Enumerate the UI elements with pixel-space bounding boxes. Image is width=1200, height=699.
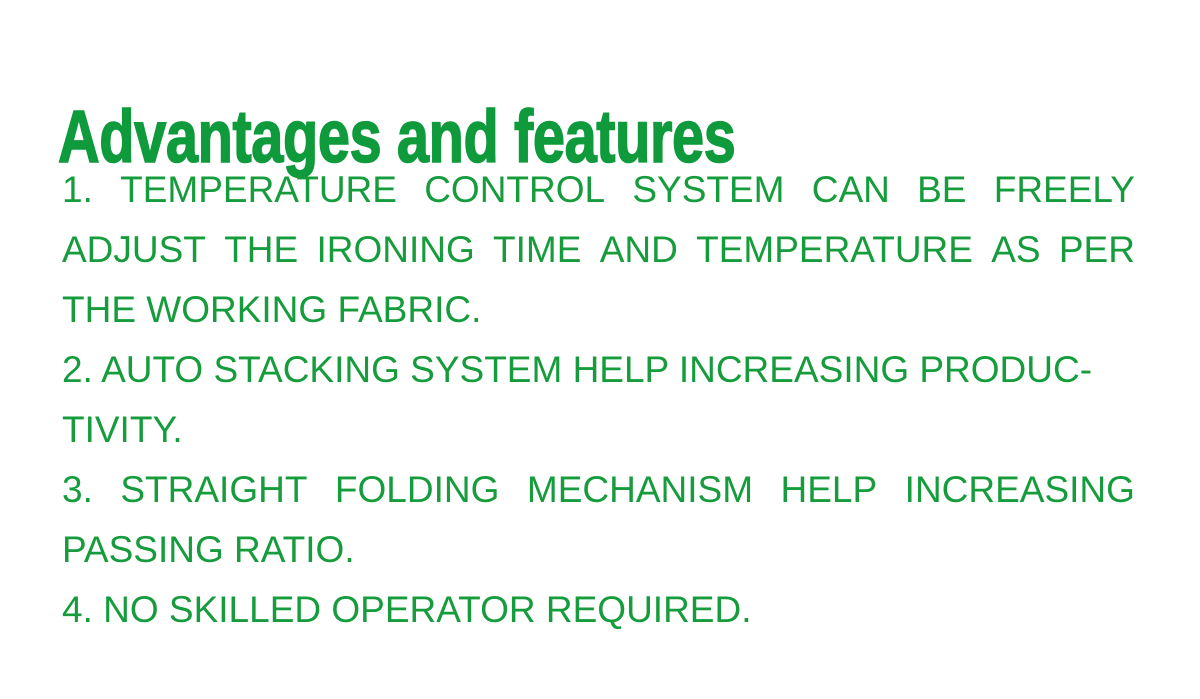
feature-word: TIME: [493, 220, 581, 280]
feature-text-line: TIVITY.: [62, 400, 1135, 460]
feature-word: MECHANISM: [527, 460, 753, 520]
feature-text-line: ADJUSTTHEIRONINGTIMEANDTEMPERATUREASPER: [62, 220, 1135, 280]
feature-text-line: 2. AUTO STACKING SYSTEM HELP INCREASING …: [62, 340, 1135, 400]
feature-word: FREELY: [994, 160, 1135, 220]
feature-text-line: 4. NO SKILLED OPERATOR REQUIRED.: [62, 580, 1135, 640]
feature-word: HELP: [781, 460, 878, 520]
feature-text-line: PASSING RATIO.: [62, 520, 1135, 580]
feature-word: IRONING: [316, 220, 474, 280]
feature-word: BE: [917, 160, 966, 220]
feature-word: ADJUST: [62, 220, 206, 280]
feature-text-line: 1.TEMPERATURECONTROLSYSTEMCANBEFREELY: [62, 160, 1135, 220]
feature-word: 1.: [62, 160, 93, 220]
feature-text-line: 3.STRAIGHTFOLDINGMECHANISMHELPINCREASING: [62, 460, 1135, 520]
feature-word: SYSTEM: [632, 160, 784, 220]
feature-word: AS: [991, 220, 1040, 280]
feature-word: TEMPERATURE: [696, 220, 973, 280]
feature-word: AND: [600, 220, 678, 280]
feature-word: STRAIGHT: [120, 460, 307, 520]
feature-text-line: THE WORKING FABRIC.: [62, 280, 1135, 340]
feature-word: CAN: [812, 160, 890, 220]
feature-word: 3.: [62, 460, 93, 520]
feature-word: TEMPERATURE: [120, 160, 397, 220]
feature-word: INCREASING: [905, 460, 1135, 520]
feature-word: CONTROL: [424, 160, 605, 220]
features-list: 1.TEMPERATURECONTROLSYSTEMCANBEFREELYADJ…: [62, 160, 1135, 640]
feature-word: THE: [224, 220, 298, 280]
feature-word: PER: [1059, 220, 1135, 280]
slide-canvas: Advantages and features 1.TEMPERATURECON…: [0, 0, 1200, 699]
feature-word: FOLDING: [335, 460, 499, 520]
